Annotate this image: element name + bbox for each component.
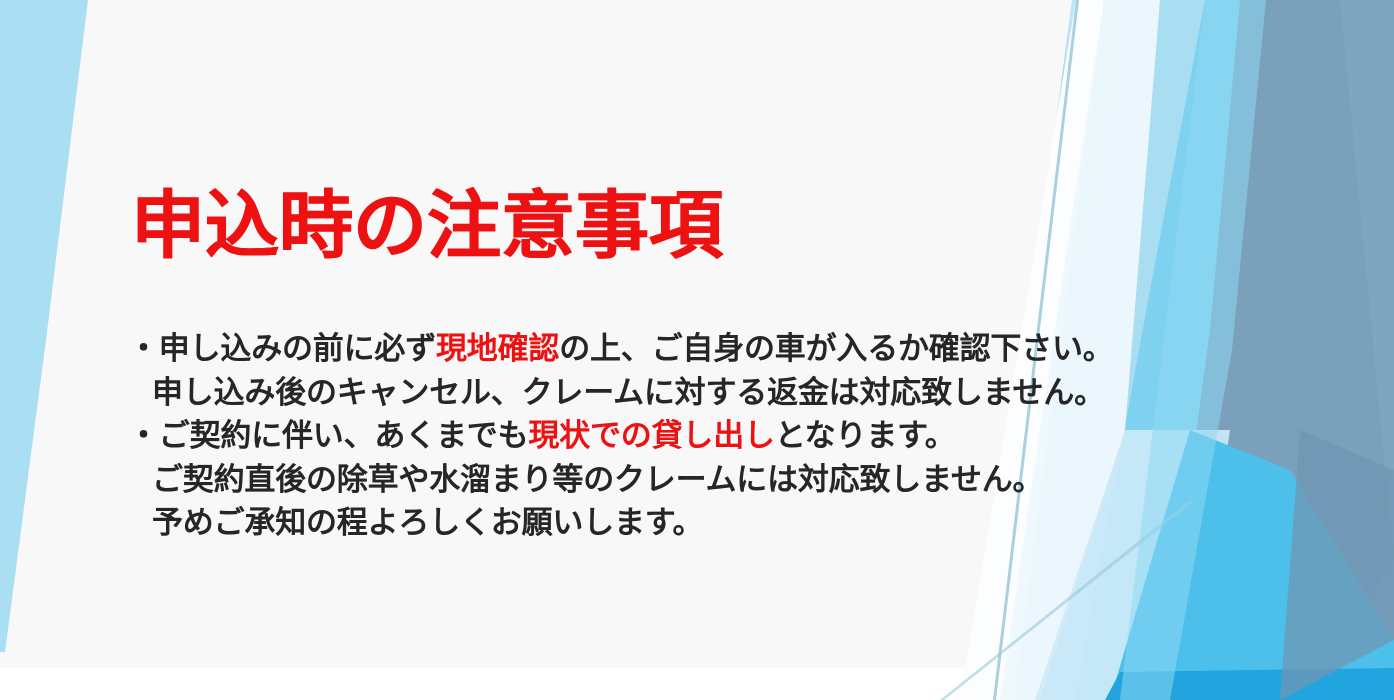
body-text: ご契約直後の除草や水溜まり等のクレームには対応致しません。 bbox=[152, 462, 1043, 497]
highlighted-text: 現地確認 bbox=[436, 331, 559, 366]
bullet-list: ・申し込みの前に必ず現地確認の上、ご自身の車が入るか確認下さい。申し込み後のキャ… bbox=[128, 327, 1128, 545]
body-text: の上、ご自身の車が入るか確認下さい。 bbox=[559, 331, 1113, 366]
slide-content: 申込時の注意事項 ・申し込みの前に必ず現地確認の上、ご自身の車が入るか確認下さい… bbox=[0, 0, 1394, 700]
body-text: ・申し込みの前に必ず bbox=[128, 331, 436, 366]
body-text: となります。 bbox=[775, 418, 956, 453]
body-text: 申し込み後のキャンセル、クレームに対する返金は対応致しません。 bbox=[152, 375, 1105, 410]
list-item: 予めご承知の程よろしくお願いします。 bbox=[128, 501, 1128, 545]
body-text: ・ご契約に伴い、あくまでも bbox=[128, 418, 528, 453]
list-item: ・申し込みの前に必ず現地確認の上、ご自身の車が入るか確認下さい。 bbox=[128, 327, 1128, 371]
list-item: ・ご契約に伴い、あくまでも現状での貸し出しとなります。 bbox=[128, 414, 1128, 458]
highlighted-text: 現状での貸し出し bbox=[528, 418, 774, 453]
body-text: 予めご承知の程よろしくお願いします。 bbox=[152, 505, 703, 540]
presentation-slide: 申込時の注意事項 ・申し込みの前に必ず現地確認の上、ご自身の車が入るか確認下さい… bbox=[0, 0, 1394, 700]
page-title: 申込時の注意事項 bbox=[131, 178, 723, 274]
list-item: ご契約直後の除草や水溜まり等のクレームには対応致しません。 bbox=[128, 458, 1128, 502]
list-item: 申し込み後のキャンセル、クレームに対する返金は対応致しません。 bbox=[128, 371, 1128, 415]
